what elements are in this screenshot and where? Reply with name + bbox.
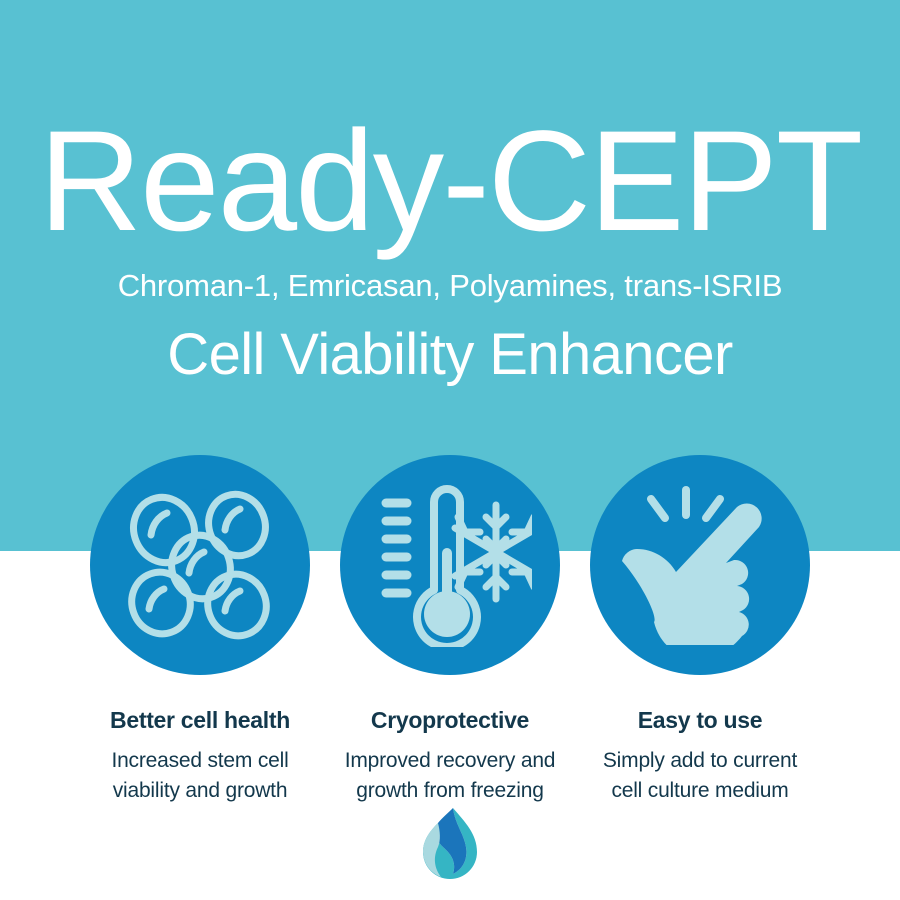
hand-shape — [622, 503, 762, 645]
feature-heading: Easy to use — [638, 675, 763, 734]
feature-heading: Better cell health — [110, 675, 290, 734]
feature-icon-circle — [90, 455, 310, 675]
page-title: Ready-CEPT — [0, 0, 900, 253]
feature-icon-circle — [340, 455, 560, 675]
feature-description: Improved recovery and growth from freezi… — [325, 734, 575, 807]
feature-description-line2: viability and growth — [113, 779, 288, 802]
feature-list: Better cell health Increased stem cell v… — [0, 455, 900, 807]
feature-heading: Cryoprotective — [371, 675, 529, 734]
headline-block: Ready-CEPT Chroman-1, Emricasan, Polyami… — [0, 0, 900, 386]
feature-better-cell-health: Better cell health Increased stem cell v… — [90, 455, 310, 807]
thermometer-snowflake-icon — [368, 483, 532, 647]
motion-lines — [651, 490, 720, 518]
water-drop-logo — [415, 806, 485, 890]
feature-description: Simply add to current cell culture mediu… — [575, 734, 825, 807]
snowflake — [455, 505, 532, 599]
feature-description-line1: Improved recovery and — [345, 749, 556, 772]
thermometer-ticks — [386, 503, 407, 593]
feature-easy-to-use: Easy to use Simply add to current cell c… — [590, 455, 810, 807]
feature-description-line2: growth from freezing — [356, 779, 543, 802]
tapping-hand-icon — [620, 485, 780, 645]
feature-cryoprotective: Cryoprotective Improved recovery and gro… — [340, 455, 560, 807]
feature-description-line2: cell culture medium — [611, 779, 788, 802]
brand-logo — [0, 806, 900, 890]
feature-description-line1: Simply add to current — [603, 749, 797, 772]
feature-description-line1: Increased stem cell — [111, 749, 288, 772]
feature-icon-circle — [590, 455, 810, 675]
feature-description: Increased stem cell viability and growth — [75, 734, 325, 807]
tagline: Cell Viability Enhancer — [0, 303, 900, 386]
cells-icon — [120, 485, 280, 645]
product-poster: Ready-CEPT Chroman-1, Emricasan, Polyami… — [0, 0, 900, 900]
